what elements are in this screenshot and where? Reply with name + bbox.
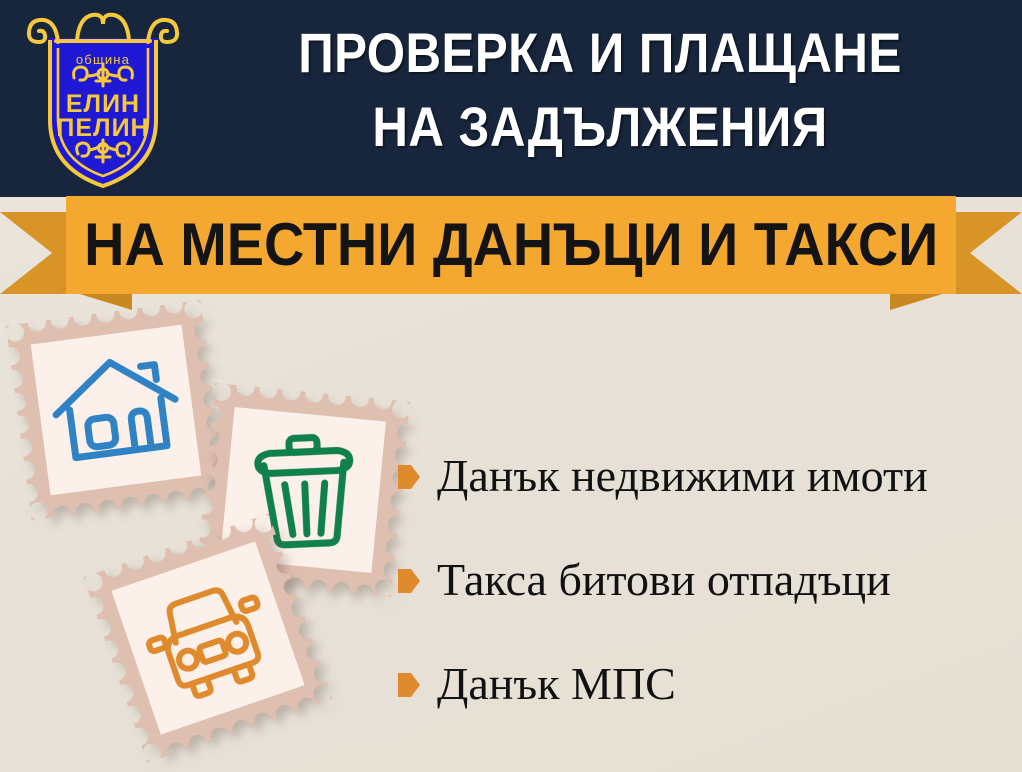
- ribbon-band: НА МЕСТНИ ДАНЪЦИ И ТАКСИ: [66, 196, 956, 294]
- header-title-group: ПРОВЕРКА И ПЛАЩАНЕ НА ЗАДЪЛЖЕНИЯ: [190, 16, 1010, 164]
- ribbon-label: НА МЕСТНИ ДАНЪЦИ И ТАКСИ: [84, 214, 938, 276]
- page-title-line2: НА ЗАДЪЛЖЕНИЯ: [239, 90, 961, 164]
- arrow-bullet-icon: [398, 673, 420, 697]
- poster-root: община ЕЛИН ПЕЛИН: [0, 0, 1022, 772]
- arrow-bullet-icon: [398, 569, 420, 593]
- header-bar: община ЕЛИН ПЕЛИН: [0, 0, 1022, 197]
- list-item[interactable]: Данък недвижими имоти: [398, 424, 1010, 528]
- list-item-label: Такса битови отпадъци: [437, 555, 891, 605]
- arrow-bullet-icon: [398, 465, 420, 489]
- list-item-label: Данък МПС: [437, 659, 676, 709]
- coat-of-arms-svg: община ЕЛИН ПЕЛИН: [22, 8, 184, 190]
- list-item[interactable]: Такса битови отпадъци: [398, 528, 1010, 632]
- coat-of-arms: община ЕЛИН ПЕЛИН: [22, 8, 184, 190]
- list-item-label: Данък недвижими имоти: [437, 451, 928, 501]
- stamp-house: [6, 300, 226, 520]
- crest-name-line2: ПЕЛИН: [56, 114, 149, 142]
- tax-types-list: Данък недвижими имоти Такса битови отпад…: [398, 424, 1010, 736]
- page-title-line1: ПРОВЕРКА И ПЛАЩАНЕ: [239, 16, 961, 90]
- subtitle-ribbon: НА МЕСТНИ ДАНЪЦИ И ТАКСИ: [0, 196, 1022, 308]
- stamp-house-svg: [6, 300, 226, 520]
- list-item[interactable]: Данък МПС: [398, 632, 1010, 736]
